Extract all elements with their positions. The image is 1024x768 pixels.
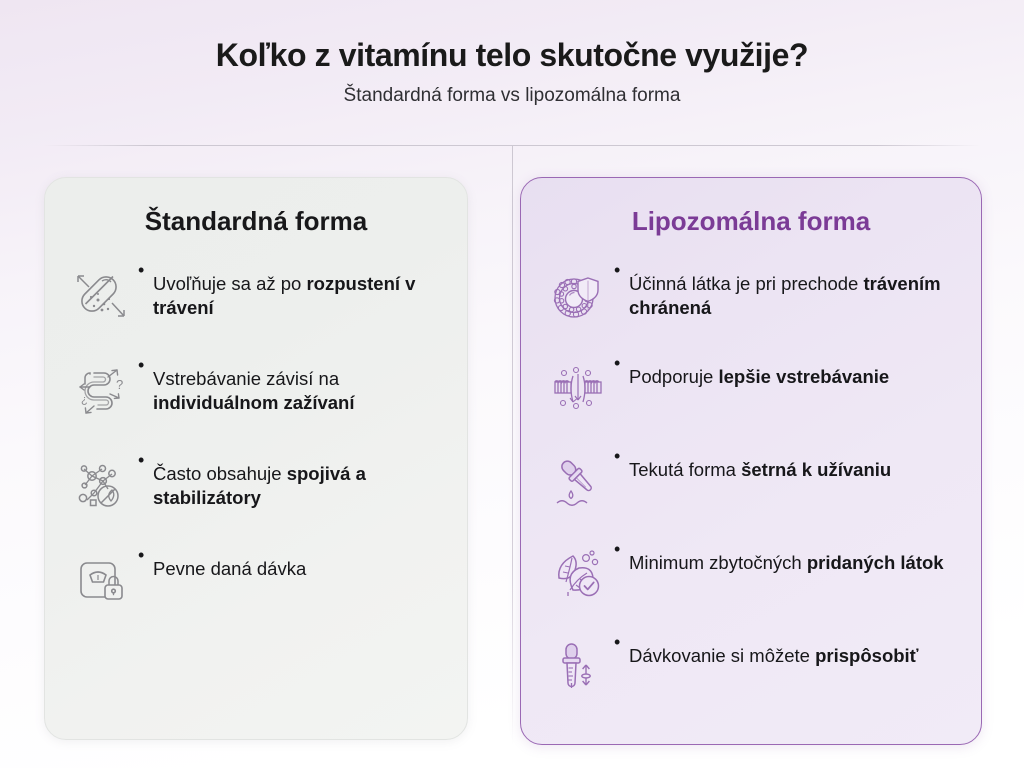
list-item: Pevne daná dávka [45,544,467,639]
svg-text:¿: ¿ [81,394,88,406]
list-item: Dávkovanie si môžete prispôsobiť [521,631,981,724]
membrane-absorption-icon [543,352,613,426]
list-item: Tekutá forma šetrná k užívaniu [521,445,981,538]
list-item-text: Minimum zbytočných pridaných látok [613,538,965,576]
header-divider-right [512,145,980,146]
scale-lock-icon [67,544,137,618]
list-item-text: Často obsahuje spojivá a stabilizátory [137,449,451,511]
header-divider-left [44,145,512,146]
intestine-question-icon: ? ¿ [67,354,137,428]
list-item: Účinná látka je pri prechode trávením ch… [521,259,981,352]
list-item: Často obsahuje spojivá a stabilizátory [45,449,467,544]
card-standard-title: Štandardná forma [45,207,467,237]
card-standard-form: Štandardná forma [44,177,468,740]
list-item: Podporuje lepšie vstrebávanie [521,352,981,445]
list-item: Minimum zbytočných pridaných látok [521,538,981,631]
leaf-check-icon [543,538,613,612]
list-item: Uvoľňuje sa až po rozpustení v trávení [45,259,467,354]
card-liposomal-title: Lipozomálna forma [521,207,981,237]
list-item: ? ¿ Vstrebávanie závisí na individuálnom… [45,354,467,449]
dropper-measure-icon [543,631,613,705]
additives-molecule-icon [67,449,137,523]
svg-text:?: ? [116,377,123,392]
list-item-text: Dávkovanie si môžete prispôsobiť [613,631,965,669]
list-item-text: Uvoľňuje sa až po rozpustení v trávení [137,259,451,321]
card-liposomal-form: Lipozomálna forma [520,177,982,745]
list-item-text: Účinná látka je pri prechode trávením ch… [613,259,965,321]
list-item-text: Vstrebávanie závisí na individuálnom zaž… [137,354,451,416]
list-item-text: Pevne daná dávka [137,544,451,582]
list-item-text: Podporuje lepšie vstrebávanie [613,352,965,390]
dropper-liquid-icon [543,445,613,519]
column-divider [512,145,513,745]
liposomal-form-list: Účinná látka je pri prechode trávením ch… [521,259,981,724]
standard-form-list: Uvoľňuje sa až po rozpustení v trávení ? [45,259,467,639]
page-subtitle: Štandardná forma vs lipozomálna forma [344,85,681,107]
header: Koľko z vitamínu telo skutočne využije? … [0,0,1024,145]
liposome-shield-icon [543,259,613,333]
page-title: Koľko z vitamínu telo skutočne využije? [216,38,808,73]
list-item-text: Tekutá forma šetrná k užívaniu [613,445,965,483]
capsule-dissolving-icon [67,259,137,333]
